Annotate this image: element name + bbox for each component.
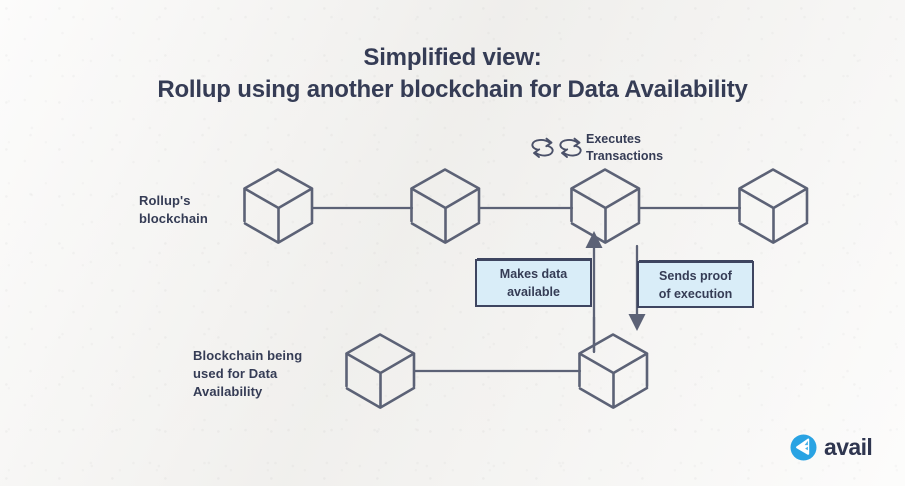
executes-transactions-label: Executes Transactions — [586, 131, 716, 165]
da-block-1 — [347, 335, 415, 408]
da-blockchain-label-line-3: Availability — [193, 383, 343, 401]
callout-makes-data-available-line-2: available — [500, 283, 567, 301]
avail-brand-logo: avail — [790, 434, 872, 461]
rollup-blockchain-label-line-1: Rollup's — [139, 192, 269, 210]
callout-sends-proof-line-1: Sends proof — [659, 267, 733, 285]
callout-sends-proof-of-execution: Sends proof of execution — [637, 261, 754, 308]
page-title-line-2: Rollup using another blockchain for Data… — [0, 74, 905, 106]
callout-sends-proof-line-2: of execution — [659, 285, 733, 303]
da-block-2 — [580, 335, 648, 408]
diagram-canvas: Simplified view: Rollup using another bl… — [0, 0, 905, 486]
executes-transactions-line-1: Executes — [586, 131, 716, 148]
da-blockchain-label: Blockchain being used for Data Availabil… — [193, 347, 343, 401]
rollup-blockchain-label-line-2: blockchain — [139, 210, 269, 228]
page-title: Simplified view: Rollup using another bl… — [0, 42, 905, 106]
da-blockchain-label-line-1: Blockchain being — [193, 347, 343, 365]
rollup-block-2 — [412, 170, 480, 243]
avail-wordmark: avail — [824, 436, 872, 459]
da-blockchain-label-line-2: used for Data — [193, 365, 343, 383]
rollup-block-4 — [740, 170, 808, 243]
callout-makes-data-available-line-1: Makes data — [500, 265, 567, 283]
page-title-line-1: Simplified view: — [0, 42, 905, 74]
callout-makes-data-available: Makes data available — [475, 259, 592, 307]
rollup-blockchain-label: Rollup's blockchain — [139, 192, 269, 228]
sync-arrows-icon — [530, 135, 586, 161]
rollup-block-3 — [572, 170, 640, 243]
avail-logo-mark-icon — [790, 434, 817, 461]
executes-transactions-line-2: Transactions — [586, 148, 716, 165]
